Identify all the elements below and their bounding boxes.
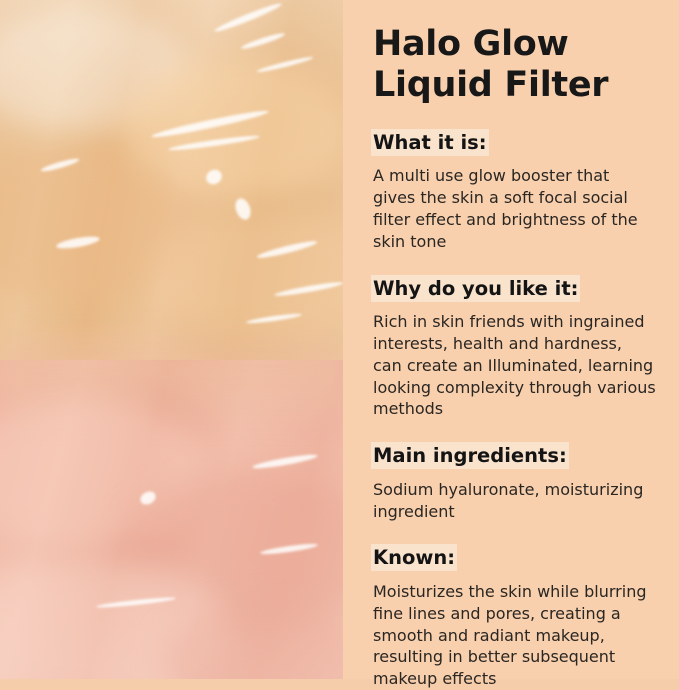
product-copy-panel: Halo Glow Liquid Filter What it is: A mu… [343,0,679,679]
page-title: Halo Glow Liquid Filter [373,24,659,107]
section-main-ingredients: Main ingredients: Sodium hyaluronate, mo… [373,442,659,522]
section-heading: Main ingredients: [373,444,567,467]
section-heading: Known: [373,546,455,569]
section-body: Moisturizes the skin while blurring fine… [373,581,659,690]
section-body: Rich in skin friends with ingrained inte… [373,311,659,421]
section-known: Known: Moisturizes the skin while blurri… [373,544,659,690]
section-heading: Why do you like it: [373,277,578,300]
section-body: A multi use glow booster that gives the … [373,165,659,253]
product-info-card: Halo Glow Liquid Filter What it is: A mu… [0,0,679,679]
section-heading: What it is: [373,131,487,154]
section-what-it-is: What it is: A multi use glow booster tha… [373,129,659,253]
product-texture-swatch [0,0,343,679]
section-body: Sodium hyaluronate, moisturizing ingredi… [373,479,659,523]
section-why-do-you-like-it: Why do you like it: Rich in skin friends… [373,275,659,421]
